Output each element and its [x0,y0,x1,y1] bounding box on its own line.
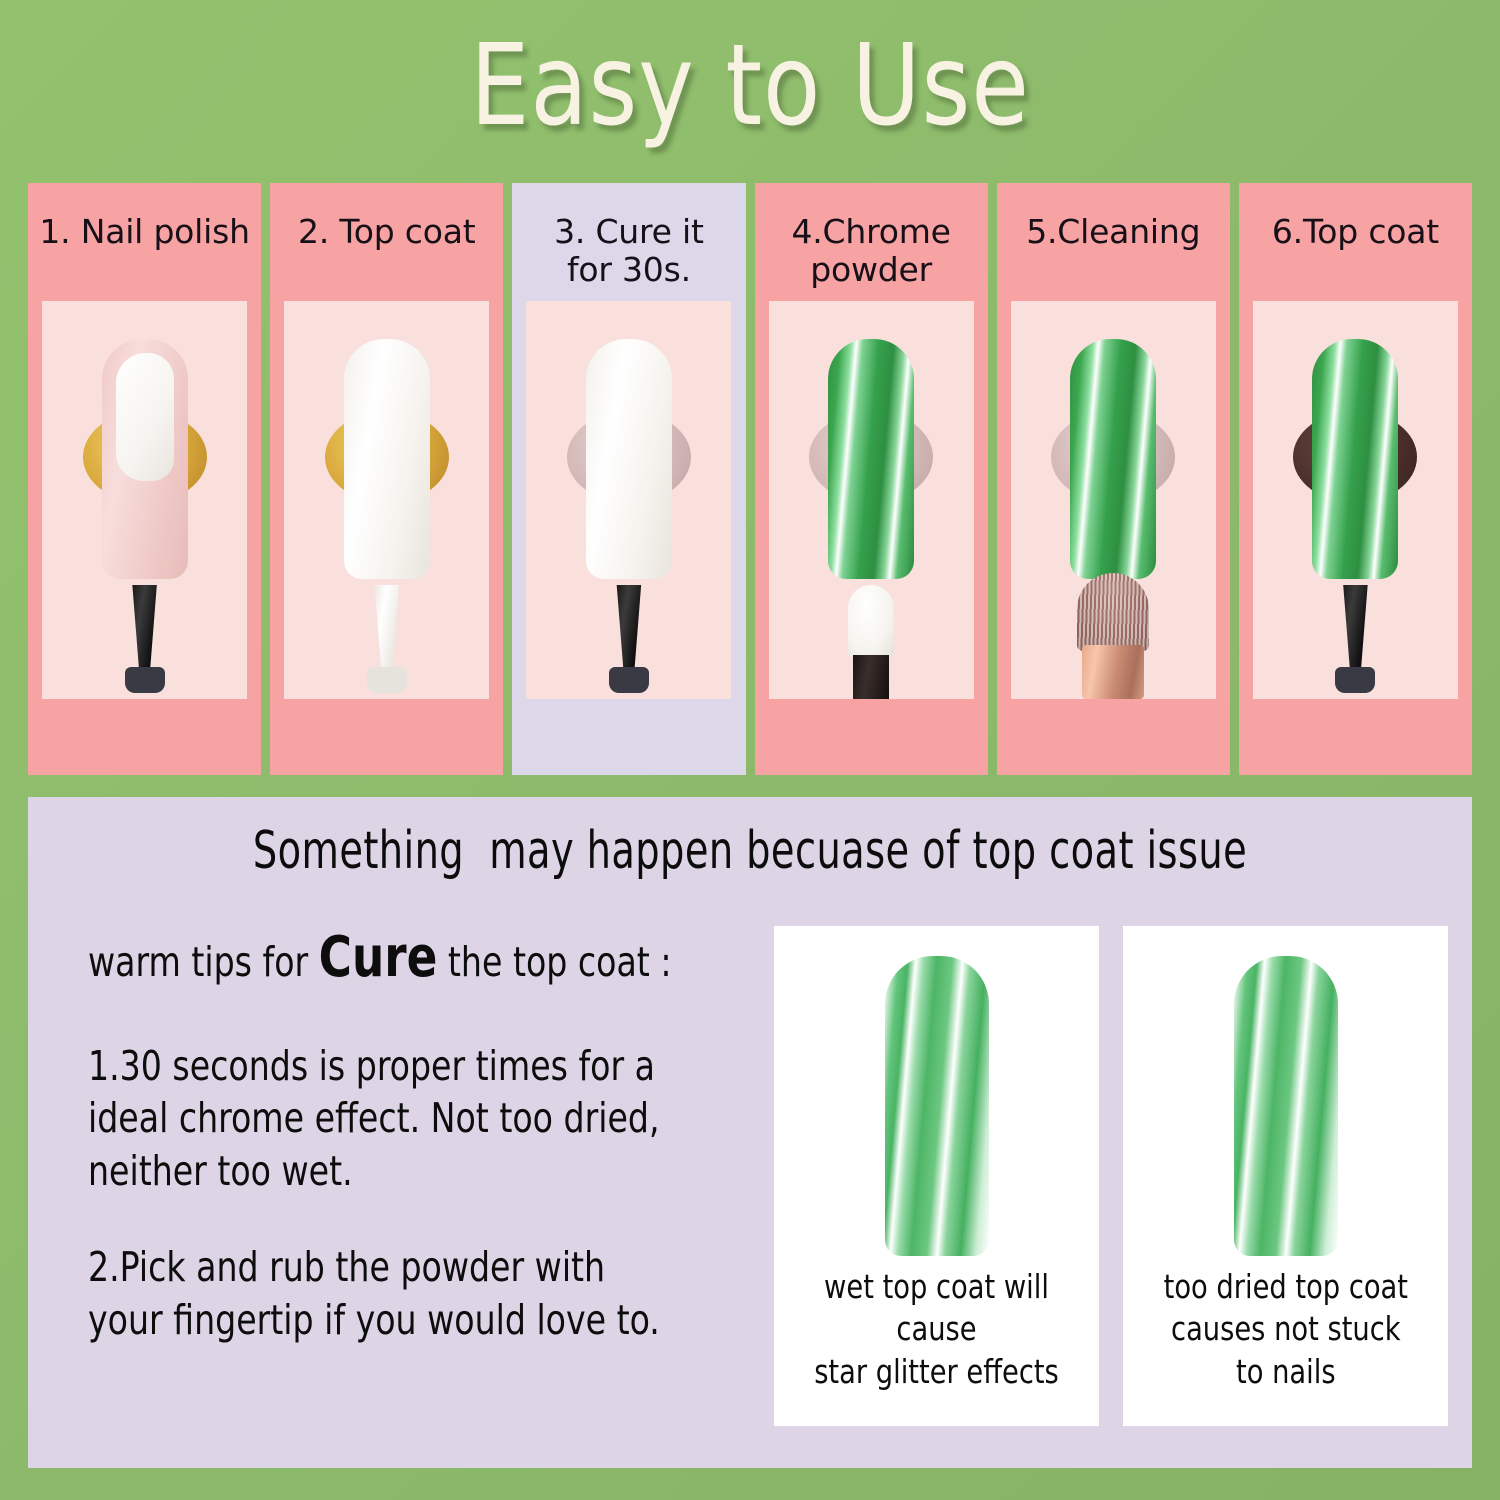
issue-panel: Something may happen becuase of top coat… [28,797,1472,1468]
steps-strip: 1. Nail polish 2. Top coat 3. Cure it fo… [28,183,1472,775]
makeup-brush-icon [1077,573,1149,699]
step-label-2: 2. Top coat [292,189,481,301]
tips-intro-after: the top coat : [437,938,671,986]
step-card-4[interactable]: 4.Chrome powder [755,183,988,775]
step-label-5: 5.Cleaning [1020,189,1206,301]
nail-tip-white [344,339,430,579]
tips-column: warm tips for Cure the top coat : 1.30 s… [88,922,748,1426]
sponge-applicator-icon [848,585,894,699]
tips-intro: warm tips for Cure the top coat : [88,922,682,994]
comparison-card-dried[interactable]: too dried top coat causes not stuck to n… [1123,926,1448,1426]
nail-tip-green-chrome [1312,339,1398,579]
step-label-6: 6.Top coat [1266,189,1445,301]
step-card-2[interactable]: 2. Top coat [270,183,503,775]
black-brush-icon [612,585,646,693]
comparison-card-wet[interactable]: wet top coat will cause star glitter eff… [774,926,1099,1426]
step-photo-5 [1011,301,1216,699]
step-card-5[interactable]: 5.Cleaning [997,183,1230,775]
black-brush-icon [128,585,162,693]
panel-body: warm tips for Cure the top coat : 1.30 s… [28,922,1472,1426]
nail-chrome-wet-topcoat [885,956,989,1256]
step-photo-6 [1253,301,1458,699]
step-photo-2 [284,301,489,699]
white-polish-blob [116,353,174,481]
step-card-3[interactable]: 3. Cure it for 30s. [512,183,745,775]
nail-tip-green-chrome [828,339,914,579]
tips-intro-before: warm tips for [88,938,319,986]
step-photo-3 [526,301,731,699]
step-photo-4 [769,301,974,699]
panel-heading: Something may happen becuase of top coat… [158,823,1342,880]
tip-item-2: 2.Pick and rub the powder with your fing… [88,1241,682,1346]
black-brush-icon [1338,585,1372,693]
comparison-caption-wet: wet top coat will cause star glitter eff… [796,1266,1077,1413]
step-label-4: 4.Chrome powder [785,189,956,301]
step-card-1[interactable]: 1. Nail polish [28,183,261,775]
nail-tip-green-chrome [1070,339,1156,579]
step-label-1: 1. Nail polish [33,189,256,301]
step-label-3: 3. Cure it for 30s. [548,189,710,301]
page-title: Easy to Use [470,30,1030,142]
step-photo-1 [42,301,247,699]
nail-tip-white [586,339,672,579]
comparison-cards: wet top coat will cause star glitter eff… [774,922,1448,1426]
white-brush-icon [370,585,404,693]
tip-item-1: 1.30 seconds is proper times for a ideal… [88,1040,682,1197]
tips-intro-emphasis: Cure [319,925,438,990]
step-card-6[interactable]: 6.Top coat [1239,183,1472,775]
nail-chrome-dried-topcoat [1234,956,1338,1256]
header-bar: Easy to Use [0,0,1500,172]
comparison-caption-dried: too dried top coat causes not stuck to n… [1163,1266,1407,1413]
